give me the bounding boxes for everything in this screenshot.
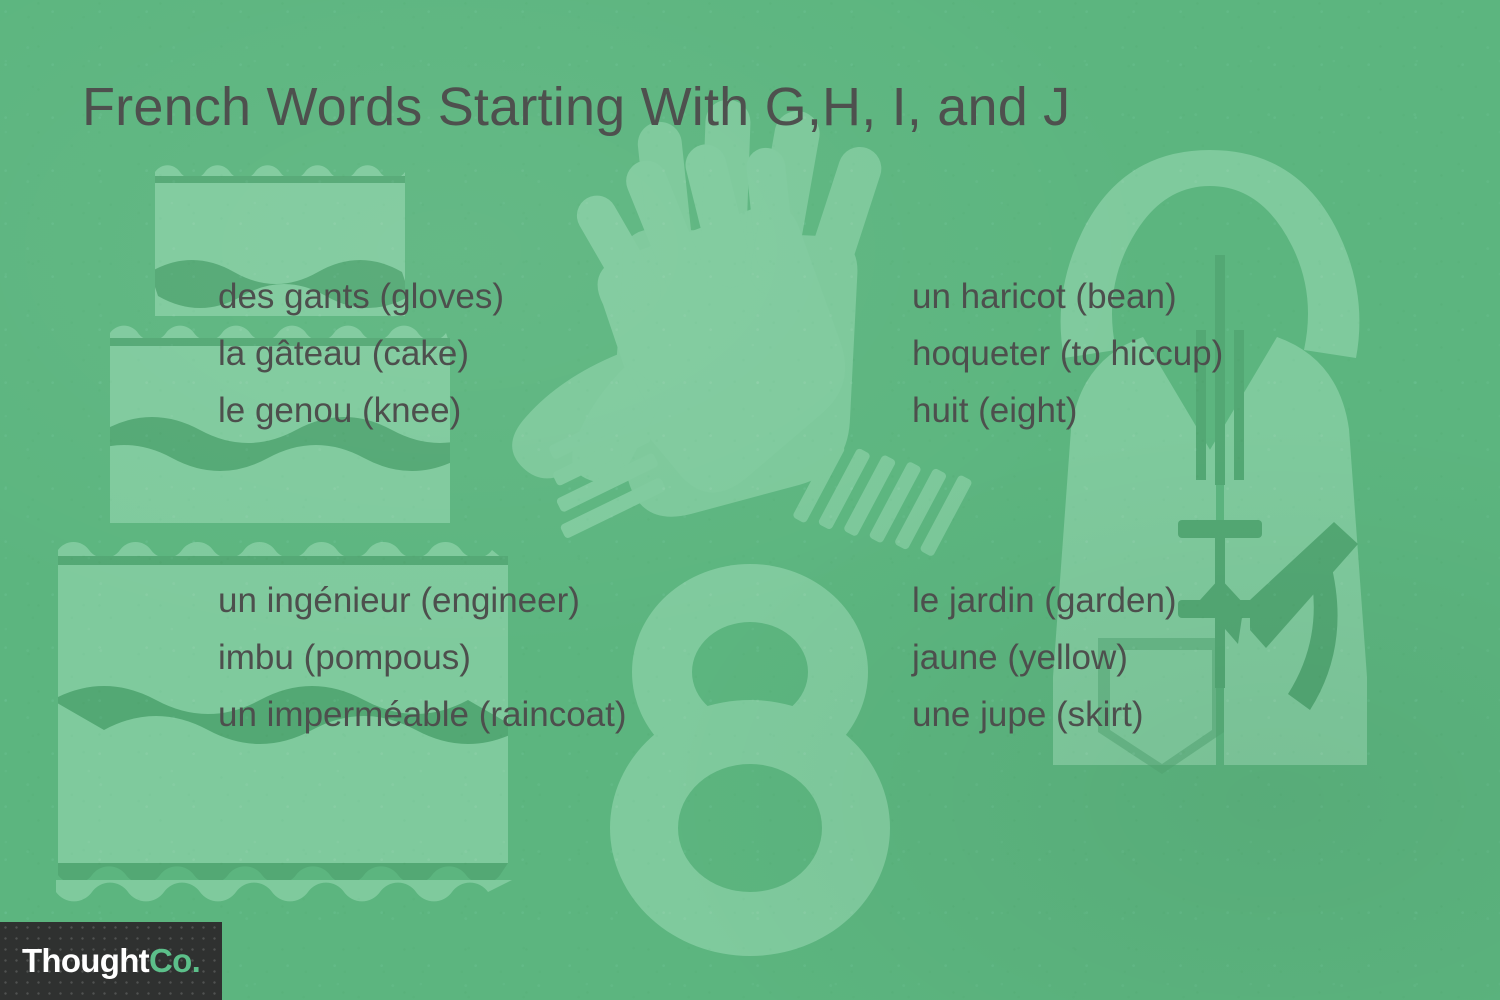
list-item: un ingénieur (engineer)	[218, 572, 627, 629]
list-item: le jardin (garden)	[912, 572, 1177, 629]
logo-accent-text: Co.	[149, 942, 200, 979]
word-list-h: un haricot (bean) hoqueter (to hiccup) h…	[912, 268, 1223, 439]
logo-primary-text: Thought	[22, 942, 149, 979]
list-item: hoqueter (to hiccup)	[912, 325, 1223, 382]
poster: French Words Starting With G,H, I, and J…	[0, 0, 1500, 1000]
content-layer: French Words Starting With G,H, I, and J…	[0, 0, 1500, 1000]
thoughtco-logo[interactable]: ThoughtCo.	[0, 922, 222, 1000]
list-item: des gants (gloves)	[218, 268, 504, 325]
list-item: jaune (yellow)	[912, 629, 1177, 686]
list-item: la gâteau (cake)	[218, 325, 504, 382]
list-item: un haricot (bean)	[912, 268, 1223, 325]
list-item: une jupe (skirt)	[912, 686, 1177, 743]
page-title: French Words Starting With G,H, I, and J	[82, 76, 1070, 138]
list-item: huit (eight)	[912, 382, 1223, 439]
list-item: le genou (knee)	[218, 382, 504, 439]
word-list-g: des gants (gloves) la gâteau (cake) le g…	[218, 268, 504, 439]
word-list-j: le jardin (garden) jaune (yellow) une ju…	[912, 572, 1177, 743]
list-item: imbu (pompous)	[218, 629, 627, 686]
word-list-i: un ingénieur (engineer) imbu (pompous) u…	[218, 572, 627, 743]
list-item: un imperméable (raincoat)	[218, 686, 627, 743]
